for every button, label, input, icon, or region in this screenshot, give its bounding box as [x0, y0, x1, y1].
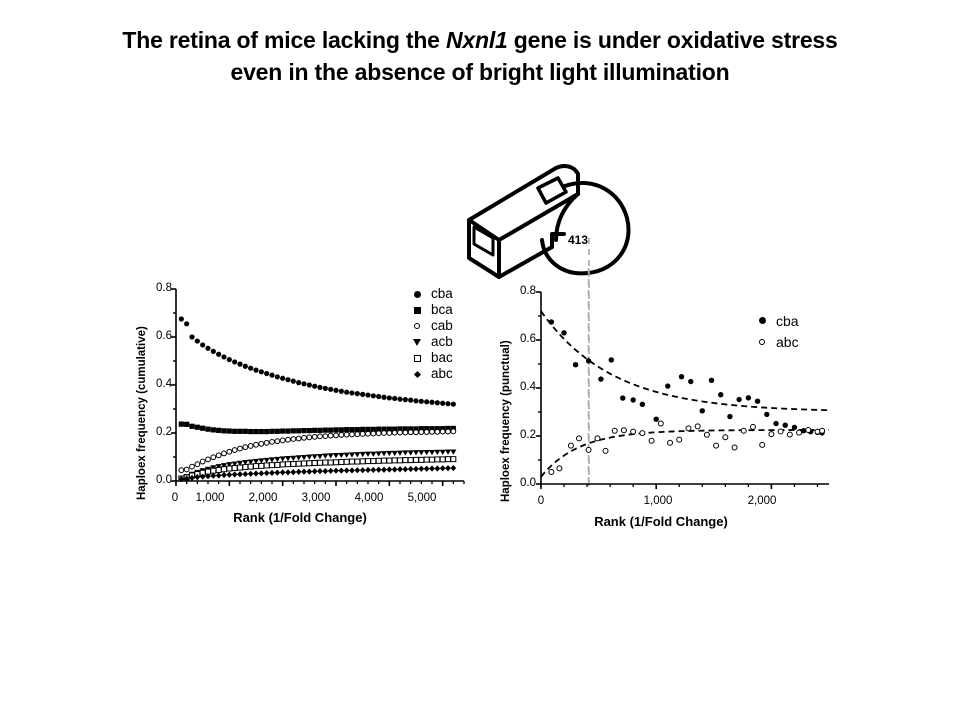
- slide-canvas: The retina of mice lacking the Nxnl1 gen…: [0, 0, 960, 720]
- legend-label-abc: abc: [776, 334, 799, 350]
- legend-label-cba: cba: [776, 313, 799, 329]
- chart-punctual-xtick-0: 0: [526, 495, 556, 507]
- filled-diamond-icon: [409, 366, 425, 382]
- title-text-part2: gene is under oxidative stress: [508, 27, 838, 53]
- open-circle-icon: [754, 334, 770, 350]
- chart-punctual-legend: cba abc: [754, 310, 799, 352]
- chart-cumulative-xtick-0: 0: [160, 492, 190, 504]
- chart-cumulative-xtick-5: 5,000: [399, 492, 445, 504]
- chart-cumulative-xtick-1: 1,000: [187, 492, 233, 504]
- chart-cumulative-xtick-2: 2,000: [240, 492, 286, 504]
- legend-item-bca: bca: [409, 302, 453, 318]
- legend-label-bac: bac: [431, 350, 453, 366]
- open-square-icon: [409, 350, 425, 366]
- legend-item-cba: cba: [754, 310, 799, 331]
- legend-item-abc: abc: [754, 331, 799, 352]
- chart-punctual-xtick-2: 2,000: [739, 495, 785, 507]
- chart-punctual-xtick-1: 1,000: [635, 495, 681, 507]
- chart-punctual: Haploex frequency (punctual) 0.8 0.6 0.4…: [496, 262, 846, 537]
- open-circle-icon: [409, 318, 425, 334]
- legend-label-cba: cba: [431, 286, 453, 302]
- filled-circle-icon: [409, 286, 425, 302]
- legend-item-abc: abc: [409, 366, 453, 382]
- page-title: The retina of mice lacking the Nxnl1 gen…: [0, 24, 960, 88]
- title-line-2: even in the absence of bright light illu…: [231, 59, 730, 85]
- legend-item-cab: cab: [409, 318, 453, 334]
- legend-item-bac: bac: [409, 350, 453, 366]
- filled-triangle-down-icon: [409, 334, 425, 350]
- legend-label-cab: cab: [431, 318, 453, 334]
- chart-punctual-xlabel: Rank (1/Fold Change): [536, 514, 786, 529]
- filled-square-icon: [409, 302, 425, 318]
- legend-item-acb: acb: [409, 334, 453, 350]
- chart-cumulative-xtick-3: 3,000: [293, 492, 339, 504]
- chart-cumulative-legend: cba bca cab acb bac abc: [409, 286, 453, 382]
- legend-item-cba: cba: [409, 286, 453, 302]
- legend-label-acb: acb: [431, 334, 453, 350]
- chart-cumulative: Haploex frequency (cumulative) 0.8 0.6 0…: [130, 260, 480, 530]
- chart-cumulative-xtick-4: 4,000: [346, 492, 392, 504]
- title-gene-name: Nxnl1: [446, 27, 508, 53]
- legend-label-bca: bca: [431, 302, 453, 318]
- legend-label-abc: abc: [431, 366, 453, 382]
- chart-cumulative-xlabel: Rank (1/Fold Change): [175, 510, 425, 525]
- filled-circle-icon: [754, 313, 770, 329]
- title-text-part1: The retina of mice lacking the: [122, 27, 446, 53]
